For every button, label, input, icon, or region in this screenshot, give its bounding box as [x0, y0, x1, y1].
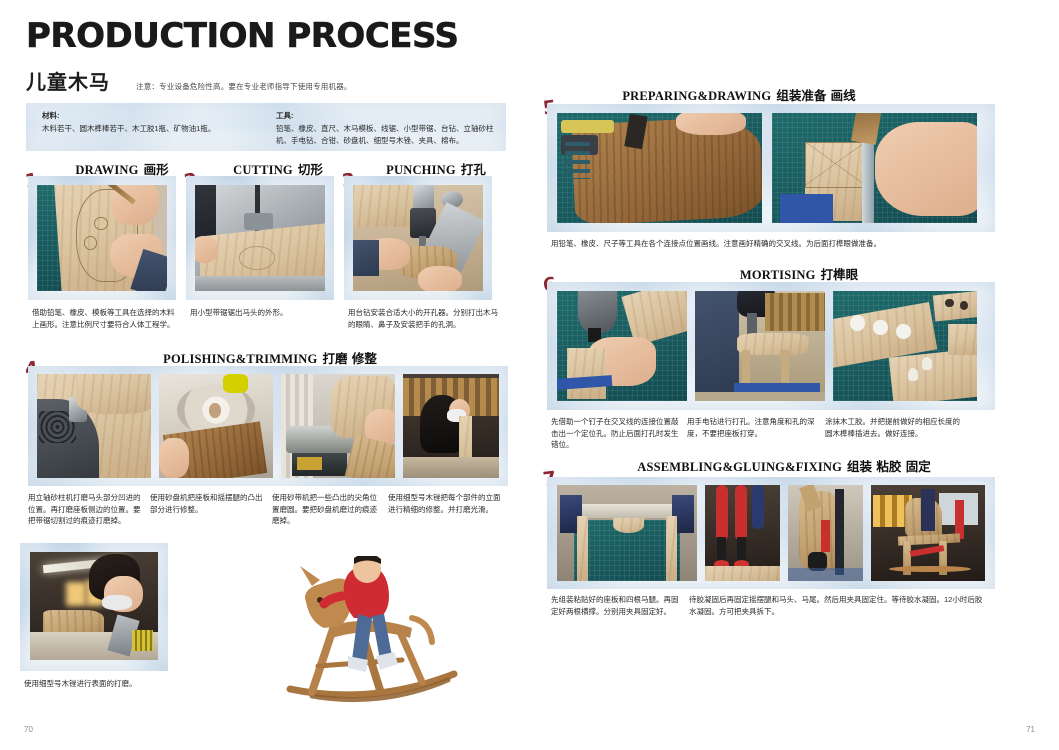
step-1-caption: 借助铅笔、橡皮、模板等工具在选择的木料上画形。注意比例尺寸要符合人体工程学。 [32, 307, 180, 330]
step-7-title-en: ASSEMBLING&GLUING&FIXING [637, 460, 842, 474]
step-2-title-en: CUTTING [233, 163, 293, 177]
tools-label: 工具: [276, 110, 501, 122]
step-4-extra-photo-strip [20, 543, 168, 671]
step-1-photo-strip [28, 176, 176, 300]
step-2-caption: 用小型带锯锯出马头的外形。 [190, 307, 338, 319]
page-title: PRODUCTION PROCESS [26, 18, 458, 54]
step-5-title-en: PREPARING&DRAWING [622, 89, 771, 103]
safety-note: 注意：专业设备危险性高。要在专业老师指导下使用专用机器。 [136, 78, 352, 92]
materials-label: 材料: [42, 110, 272, 122]
photo-belt-sander [281, 374, 395, 478]
step-4-caption-4: 使用细型号木锉把每个部件的立面进行精细的修整。并打磨光滑。 [388, 492, 506, 515]
photo-head-clamped [788, 485, 863, 581]
tools-text: 铅笔、橡皮、直尺、木马模板、线锯、小型带锯、台钻、立轴砂柱机、手电钻、合钳、砂盘… [276, 124, 494, 145]
page-left: PRODUCTION PROCESS 儿童木马 注意：专业设备危险性高。要在专业… [0, 0, 529, 750]
step-4-caption-3: 使用砂带机把一些凸出的尖角位置磨圆。要把砂盘机磨过的痕迹磨掉。 [272, 492, 384, 527]
step-1-title-cn: 画形 [144, 162, 169, 177]
step-4-title-cn: 打磨 修整 [322, 351, 376, 366]
photo-surface-filing [30, 552, 158, 660]
photo-hand-drill [695, 291, 825, 401]
step-6-caption-3: 涂抹木工胶。并把提前做好的相应长度的圆木榫棒插进去。做好连接。 [825, 416, 963, 439]
step-4-photo-strip [28, 366, 508, 486]
step-4-caption-1: 用立轴砂柱机打磨马头部分凹进的位置。再打磨座板侧边的位置。要把带锯切割过的痕迹打… [28, 492, 146, 527]
step-5-caption: 用铅笔、橡皮、尺子等工具在各个连接点位置画线。注意画好精确的交叉线。为后面打榫眼… [551, 238, 991, 250]
step-6-caption-2: 用手电钻进行打孔。注意角度和孔的深度，不要把座板打穿。 [687, 416, 815, 439]
tools-column: 工具: 铅笔、橡皮、直尺、木马模板、线锯、小型带锯、台钻、立轴砂柱机、手电钻、合… [276, 110, 501, 147]
subject-title-cn: 儿童木马 [26, 66, 110, 95]
step-6-title-en: MORTISING [740, 268, 816, 282]
hero-rocking-horse-photo [272, 556, 472, 716]
step-1-title-en: DRAWING [75, 163, 138, 177]
photo-drawing-cross-lines [772, 113, 977, 223]
photo-nail-punch [557, 291, 687, 401]
step-7-photo-strip [547, 477, 995, 589]
step-6-photo-strip [547, 282, 995, 410]
step-3-title-cn: 打孔 [461, 162, 486, 177]
page-number-left: 70 [24, 725, 33, 734]
step-5-photo-strip [547, 104, 995, 232]
step-2-photo-strip [186, 176, 334, 300]
step-5-title-cn: 组装准备 画线 [776, 88, 855, 103]
page-right: PREPARING&DRAWING组装准备 画线 5 [529, 0, 1059, 750]
step-3-caption: 用台钻安装合适大小的开孔器。分别打出木马的眼睛、鼻子及安装把手的孔洞。 [348, 307, 498, 330]
step-4-extra-caption: 使用细型号木锉进行表面的打磨。 [24, 678, 184, 690]
step-7-caption-2: 待胶凝固后再固定摇摆腿和马头、马尾。然后用夹具固定住。等待胶水凝固。12小时后胶… [689, 594, 989, 617]
photo-drawing-template [37, 185, 167, 291]
step-2-title-cn: 切形 [298, 162, 323, 177]
photo-drill-press-punching [353, 185, 483, 291]
photo-marking-seat [557, 113, 762, 223]
step-4-caption-2: 使用砂盘机把座板和摇摆腿的凸出部分进行修整。 [150, 492, 268, 515]
step-7-title-cn: 组装 粘胶 固定 [847, 459, 931, 474]
step-7-caption-1: 先组装粘贴好的座板和四根马腿。再固定好两根横撑。分别用夹具固定好。 [551, 594, 681, 617]
subject-row: 儿童木马 注意：专业设备危险性高。要在专业老师指导下使用专用机器。 [26, 66, 506, 95]
page-number-right: 71 [1026, 725, 1035, 734]
step-6-caption-1: 先借助一个钉子在交叉线的连接位置敲击出一个定位孔。防止后面打孔时发生错位。 [551, 416, 679, 451]
photo-disc-sander [159, 374, 273, 478]
photo-bandsaw-cutting [195, 185, 325, 291]
materials-tools-band: 材料: 木料若干、圆木榫棒若干、木工胶1瓶、矿物油1瓶。 工具: 铅笔、橡皮、直… [26, 103, 506, 151]
step-5-title: PREPARING&DRAWING组装准备 画线 [574, 85, 904, 105]
step-6-title-cn: 打榫眼 [821, 267, 859, 282]
step-6-title: MORTISING打榫眼 [684, 264, 914, 284]
materials-text: 木料若干、圆木榫棒若干、木工胶1瓶、矿物油1瓶。 [42, 124, 215, 133]
photo-full-assembly-clamped [871, 485, 985, 581]
book-spread: PRODUCTION PROCESS 儿童木马 注意：专业设备危险性高。要在专业… [0, 0, 1059, 750]
masthead: PRODUCTION PROCESS [26, 18, 458, 54]
photo-spindle-sander [37, 374, 151, 478]
materials-column: 材料: 木料若干、圆木榫棒若干、木工胶1瓶、矿物油1瓶。 [42, 110, 272, 135]
photo-gluing-dowels [833, 291, 977, 401]
photo-hand-rasping [403, 374, 499, 478]
step-3-photo-strip [344, 176, 492, 300]
photo-clamping-seat-legs [557, 485, 697, 581]
step-3-title-en: PUNCHING [386, 163, 456, 177]
photo-clamps-closeup [705, 485, 780, 581]
step-4-title: POLISHING&TRIMMING打磨 修整 [130, 348, 410, 368]
step-4-title-en: POLISHING&TRIMMING [163, 352, 317, 366]
step-7-title: ASSEMBLING&GLUING&FIXING组装 粘胶 固定 [614, 456, 954, 476]
